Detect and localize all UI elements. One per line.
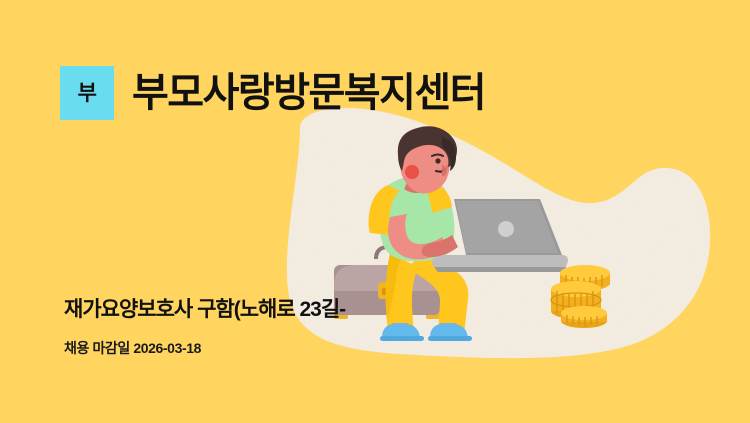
job-posting-poster: 부 부모사랑방문복지센터 — [0, 0, 750, 423]
blush — [405, 165, 419, 179]
org-name-title: 부모사랑방문복지센터 — [132, 73, 485, 113]
job-deadline: 채용 마감일 2026-03-18 — [64, 338, 345, 358]
head — [398, 126, 457, 193]
org-initial-badge: 부 — [60, 66, 114, 120]
coin-stacks-icon — [551, 265, 610, 328]
org-initial-badge-label: 부 — [78, 83, 97, 104]
poster-header: 부 부모사랑방문복지센터 — [60, 66, 485, 120]
eye — [435, 158, 440, 163]
job-title: 재가요양보호사 구함(노해로 23길- — [64, 298, 345, 322]
coin-stack-bottom — [561, 306, 607, 328]
job-info-block: 재가요양보호사 구함(노해로 23길- 채용 마감일 2026-03-18 — [64, 298, 345, 358]
man-working-on-laptop-illustration — [330, 125, 660, 345]
shoes-icon — [380, 323, 472, 341]
